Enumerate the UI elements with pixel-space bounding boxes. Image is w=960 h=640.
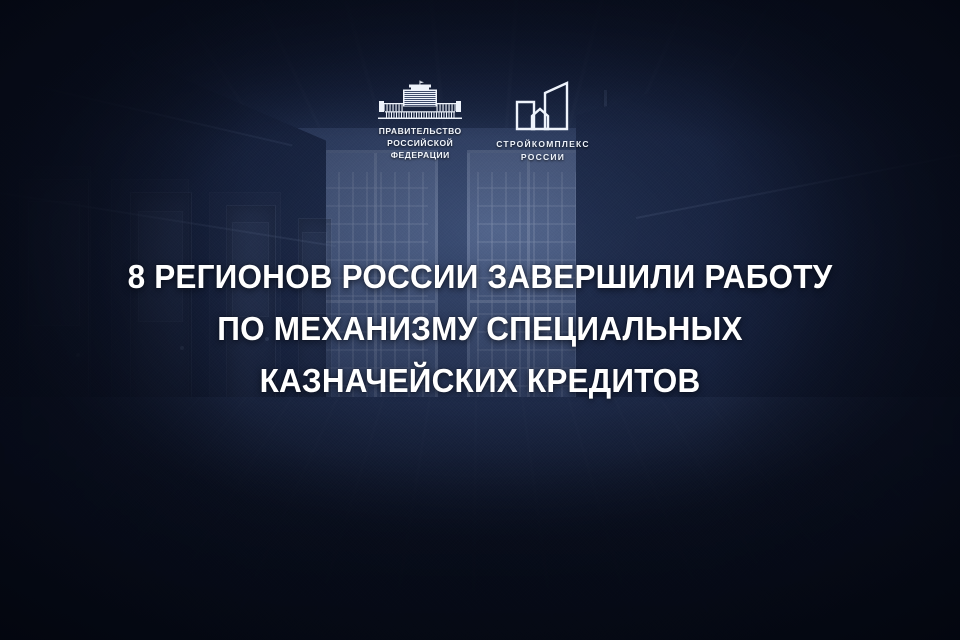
headline: 8 РЕГИОНОВ РОССИИ ЗАВЕРШИЛИ РАБОТУ ПО МЕ…: [0, 252, 960, 408]
headline-line-3: КАЗНАЧЕЙСКИХ КРЕДИТОВ: [81, 356, 878, 408]
logo-stroykompleks-caption: СТРОЙКОМПЛЕКС РОССИИ: [496, 138, 590, 164]
headline-line-2: ПО МЕХАНИЗМУ СПЕЦИАЛЬНЫХ: [81, 304, 878, 356]
headline-line-1: 8 РЕГИОНОВ РОССИИ ЗАВЕРШИЛИ РАБОТУ: [81, 252, 878, 304]
logo-government-caption: ПРАВИТЕЛЬСТВО РОССИЙСКОЙ ФЕДЕРАЦИИ: [379, 125, 462, 161]
logo-bar: ПРАВИТЕЛЬСТВО РОССИЙСКОЙ ФЕДЕРАЦИИ СТРОЙ…: [0, 80, 960, 164]
government-building-emblem-icon: [370, 80, 470, 120]
logo-government-of-russia: ПРАВИТЕЛЬСТВО РОССИЙСКОЙ ФЕДЕРАЦИИ: [370, 80, 470, 161]
logo-stroykompleks-russia: СТРОЙКОМПЛЕКС РОССИИ: [496, 80, 590, 164]
news-card-poster: ПРАВИТЕЛЬСТВО РОССИЙСКОЙ ФЕДЕРАЦИИ СТРОЙ…: [0, 0, 960, 640]
buildings-outline-icon: [504, 80, 582, 132]
